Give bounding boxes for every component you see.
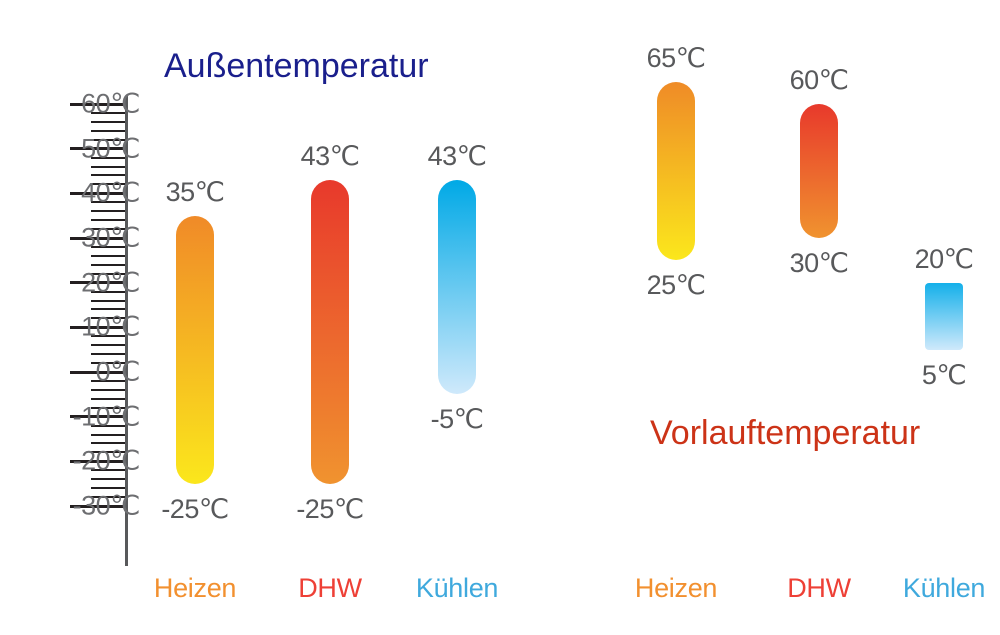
- axis-tick-minor: [91, 255, 125, 257]
- bar-min-value-label: 25℃: [616, 270, 736, 301]
- axis-tick-minor: [91, 487, 125, 489]
- axis-tick-minor: [91, 174, 125, 176]
- category-label-kühlen: Kühlen: [377, 573, 537, 604]
- axis-tick-label: 10℃: [34, 312, 140, 343]
- axis-tick-label: 0℃: [34, 357, 140, 388]
- axis-tick-minor: [91, 130, 125, 132]
- axis-tick-minor: [91, 442, 125, 444]
- axis-tick-label: -20℃: [34, 446, 140, 477]
- axis-tick-minor: [91, 344, 125, 346]
- category-label-kühlen: Kühlen: [864, 573, 1000, 604]
- axis-tick-label: 30℃: [34, 223, 140, 254]
- axis-tick-minor: [91, 478, 125, 480]
- axis-tick-minor: [91, 166, 125, 168]
- bar-outdoor-kühlen: [438, 180, 476, 394]
- bar-max-value-label: 60℃: [759, 65, 879, 96]
- axis-tick-minor: [91, 389, 125, 391]
- page-title-outdoor-temperature: Außentemperatur: [164, 47, 429, 86]
- bar-max-value-label: 20℃: [884, 244, 1000, 275]
- axis-tick-label: 60℃: [34, 89, 140, 120]
- bar-max-value-label: 65℃: [616, 43, 736, 74]
- bar-max-value-label: 35℃: [135, 177, 255, 208]
- bar-outdoor-heizen: [176, 216, 214, 484]
- axis-tick-label: 50℃: [34, 133, 140, 164]
- axis-tick-label: 40℃: [34, 178, 140, 209]
- bar-max-value-label: 43℃: [270, 141, 390, 172]
- axis-tick-minor: [91, 398, 125, 400]
- axis-tick-label: -30℃: [34, 491, 140, 522]
- bar-flow-kühlen: [925, 283, 963, 350]
- bar-min-value-label: 5℃: [884, 360, 1000, 391]
- bar-min-value-label: 30℃: [759, 248, 879, 279]
- axis-tick-minor: [91, 121, 125, 123]
- y-axis: 60℃50℃40℃30℃20℃10℃0℃-10℃-20℃-30℃: [0, 0, 140, 635]
- axis-tick-minor: [91, 434, 125, 436]
- axis-tick-minor: [91, 219, 125, 221]
- axis-tick-minor: [91, 264, 125, 266]
- axis-tick-label: 20℃: [34, 267, 140, 298]
- bar-outdoor-dhw: [311, 180, 349, 484]
- bar-min-value-label: -25℃: [270, 494, 390, 525]
- axis-tick-minor: [91, 300, 125, 302]
- bar-min-value-label: -5℃: [397, 404, 517, 435]
- axis-tick-minor: [91, 308, 125, 310]
- axis-tick-label: -10℃: [34, 401, 140, 432]
- axis-tick-minor: [91, 210, 125, 212]
- bar-max-value-label: 43℃: [397, 141, 517, 172]
- axis-tick-minor: [91, 353, 125, 355]
- bar-flow-heizen: [657, 82, 695, 261]
- page-title-flow-temperature: Vorlauftemperatur: [650, 414, 920, 453]
- chart-canvas: Außentemperatur Vorlauftemperatur 60℃50℃…: [0, 0, 1000, 635]
- bar-min-value-label: -25℃: [135, 494, 255, 525]
- bar-flow-dhw: [800, 104, 838, 238]
- category-label-heizen: Heizen: [596, 573, 756, 604]
